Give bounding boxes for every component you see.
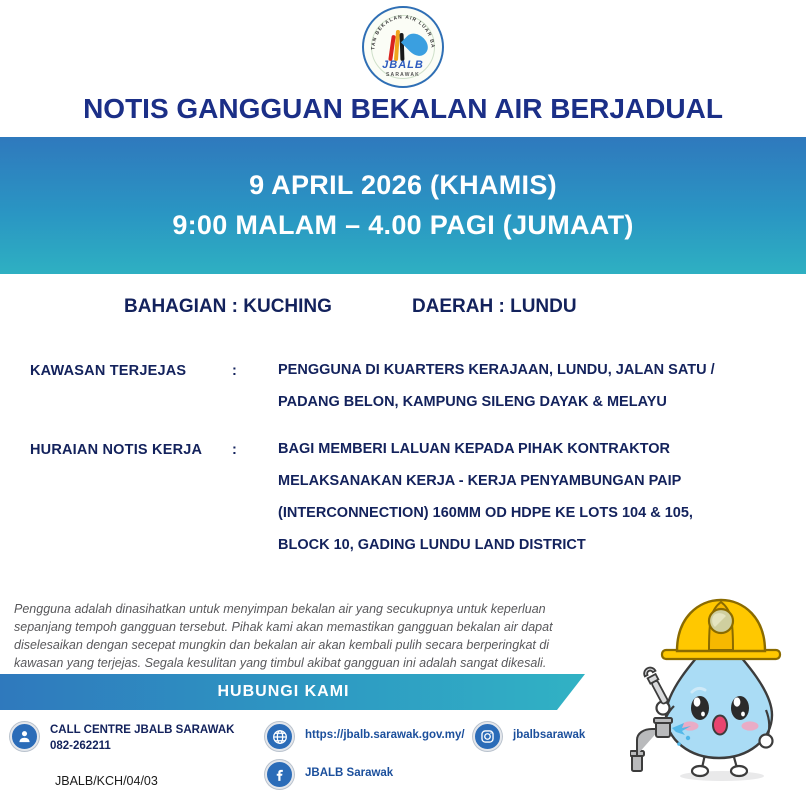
work-description-line: MELAKSANAKAN KERJA - KERJA PENYAMBUNGAN … (278, 474, 748, 490)
notice-date: 9 APRIL 2026 (KHAMIS) (249, 170, 557, 201)
instagram-item[interactable]: jbalbsarawak (473, 722, 585, 751)
call-centre-number: 082-262211 (50, 739, 234, 755)
website-url[interactable]: https://jbalb.sarawak.gov.my/ (305, 722, 465, 741)
facebook-item[interactable]: JBALB Sarawak (265, 760, 393, 789)
division-row: BAHAGIAN : KUCHING DAERAH : LUNDU (0, 296, 806, 318)
website-item[interactable]: https://jbalb.sarawak.gov.my/ (265, 722, 465, 751)
advisory-note: Pengguna adalah dinasihatkan untuk menyi… (14, 600, 594, 673)
work-description-line: BAGI MEMBERI LALUAN KEPADA PIHAK KONTRAK… (278, 442, 748, 458)
logo-state-label: SARAWAK (364, 72, 442, 78)
call-centre-title: CALL CENTRE JBALB SARAWAK (50, 723, 234, 739)
notice-time-range: 9:00 MALAM – 4.00 PAGI (JUMAAT) (172, 210, 633, 241)
affected-area-line: PADANG BELON, KAMPUNG SILENG DAYAK & MEL… (278, 395, 748, 411)
date-time-banner: 9 APRIL 2026 (KHAMIS) 9:00 MALAM – 4.00 … (0, 137, 806, 274)
work-description-colon: : (232, 442, 278, 554)
person-icon (10, 722, 39, 751)
bahagian-label: BAHAGIAN : KUCHING (124, 296, 332, 318)
instagram-handle[interactable]: jbalbsarawak (513, 722, 585, 741)
logo-oval-border: JABATAN BEKALAN AIR LUAR BANDAR JBALB SA… (362, 6, 444, 88)
affected-area-row: KAWASAN TERJEJAS : PENGGUNA DI KUARTERS … (0, 363, 806, 411)
call-centre-item: CALL CENTRE JBALB SARAWAK 082-262211 (10, 722, 234, 754)
banner-stripe-decoration (582, 674, 622, 710)
affected-area-colon: : (232, 363, 278, 411)
work-description-line: (INTERCONNECTION) 160MM OD HDPE KE LOTS … (278, 506, 748, 522)
logo-acronym: JBALB (364, 59, 442, 71)
affected-area-label: KAWASAN TERJEJAS (30, 363, 232, 411)
reference-number-item: JBALB/KCH/04/03 (55, 774, 158, 788)
work-description-row: HURAIAN NOTIS KERJA : BAGI MEMBERI LALUA… (0, 442, 806, 554)
facebook-handle[interactable]: JBALB Sarawak (305, 760, 393, 779)
jbalb-logo: JABATAN BEKALAN AIR LUAR BANDAR JBALB SA… (362, 6, 444, 88)
page-title: NOTIS GANGGUAN BEKALAN AIR BERJADUAL (0, 93, 806, 125)
call-centre-text: CALL CENTRE JBALB SARAWAK 082-262211 (50, 722, 234, 754)
work-description-line: BLOCK 10, GADING LUNDU LAND DISTRICT (278, 538, 748, 554)
contact-banner-title: HUBUNGI KAMI (218, 683, 350, 701)
instagram-icon[interactable] (473, 722, 502, 751)
daerah-label: DAERAH : LUNDU (412, 296, 577, 318)
work-description-label: HURAIAN NOTIS KERJA (30, 442, 232, 554)
reference-number: JBALB/KCH/04/03 (55, 774, 158, 788)
globe-icon[interactable] (265, 722, 294, 751)
affected-area-value: PENGGUNA DI KUARTERS KERAJAAN, LUNDU, JA… (278, 363, 748, 411)
affected-area-line: PENGGUNA DI KUARTERS KERAJAAN, LUNDU, JA… (278, 363, 748, 379)
facebook-icon[interactable] (265, 760, 294, 789)
work-description-value: BAGI MEMBERI LALUAN KEPADA PIHAK KONTRAK… (278, 442, 748, 554)
water-droplet-mascot (630, 588, 800, 788)
page-header: JABATAN BEKALAN AIR LUAR BANDAR JBALB SA… (0, 0, 806, 137)
contact-banner-bar: HUBUNGI KAMI (0, 674, 585, 710)
